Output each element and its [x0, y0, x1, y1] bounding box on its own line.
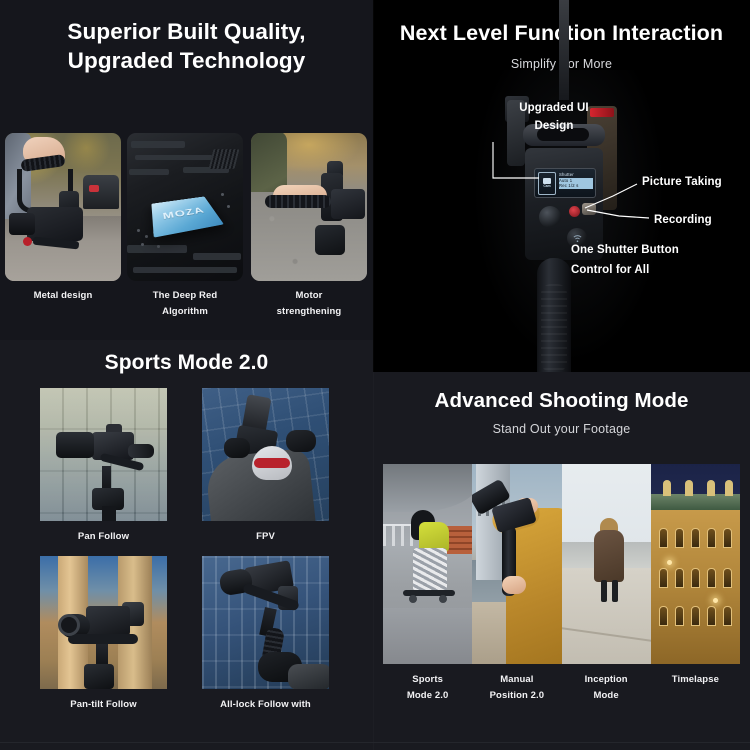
bottom-divider — [0, 742, 750, 743]
caption-manual-position: Manual Position 2.0 — [472, 672, 561, 704]
panel-superior-built-quality: Superior Built Quality, Upgraded Technol… — [0, 0, 373, 340]
panel-quality-title-line2: Upgraded Technology — [68, 48, 306, 73]
image-timelapse — [651, 464, 740, 664]
panel-sports-title: Sports Mode 2.0 — [0, 340, 373, 377]
image-sports-mode — [383, 464, 472, 664]
vertical-divider — [373, 0, 374, 750]
image-inception-mode — [562, 464, 651, 664]
caption-deep-red-algorithm: The Deep Red Algorithm — [127, 288, 243, 319]
image-pan-tilt-follow — [40, 556, 167, 689]
callout-upgraded-ui-design: Upgraded UI Design — [507, 100, 601, 136]
panel-quality-title: Superior Built Quality, Upgraded Technol… — [0, 0, 373, 76]
caption-timelapse: Timelapse — [651, 672, 740, 704]
panel-advanced-subtitle: Stand Out your Footage — [373, 414, 750, 436]
caption-sports-mode: Sports Mode 2.0 — [383, 672, 472, 704]
caption-pan-follow: Pan Follow — [40, 531, 167, 542]
panel-advanced-shooting-mode: Advanced Shooting Mode Stand Out your Fo… — [373, 372, 750, 750]
advanced-caption-row: Sports Mode 2.0 Manual Position 2.0 Ince… — [383, 672, 740, 704]
panel-advanced-title: Advanced Shooting Mode — [373, 372, 750, 414]
caption-all-lock-follow: All-lock Follow with — [202, 699, 329, 710]
image-metal-design — [5, 133, 121, 281]
caption-inception-mode: Inception Mode — [562, 672, 651, 704]
sports-image-grid: Pan Follow FPV Pan-tilt Follow All-lock … — [0, 388, 373, 738]
panel-quality-title-line1: Superior Built Quality, — [67, 19, 305, 44]
gimbal-hero-photo: Cam Shutter Auto 1 Rec 1/2 s — [373, 0, 750, 372]
callout-picture-taking: Picture Taking — [642, 174, 722, 192]
quality-image-row: MOZA — [0, 133, 373, 281]
callout-one-shutter-button: One Shutter Button Control for All — [571, 240, 679, 280]
image-manual-position — [472, 464, 561, 664]
caption-motor-strengthening: Motor strengthening — [251, 288, 367, 319]
caption-metal-design: Metal design — [5, 288, 121, 304]
panel-next-level-function-interaction: Next Level Function Interaction Simplify… — [373, 0, 750, 372]
image-pan-follow — [40, 388, 167, 521]
caption-fpv: FPV — [202, 531, 329, 542]
image-motor-strengthening — [251, 133, 367, 281]
image-fpv — [202, 388, 329, 521]
callout-recording: Recording — [654, 212, 712, 230]
image-all-lock-follow — [202, 556, 329, 689]
quality-caption-row: Metal design The Deep Red Algorithm Moto… — [0, 288, 373, 336]
moza-chip: MOZA — [151, 196, 224, 237]
product-feature-collage: Superior Built Quality, Upgraded Technol… — [0, 0, 750, 750]
panel-sports-mode: Sports Mode 2.0 — [0, 340, 373, 750]
image-deep-red-algorithm: MOZA — [127, 133, 243, 281]
caption-pan-tilt-follow: Pan-tilt Follow — [40, 699, 167, 710]
advanced-image-strip — [383, 464, 740, 664]
moza-chip-label: MOZA — [152, 204, 216, 223]
